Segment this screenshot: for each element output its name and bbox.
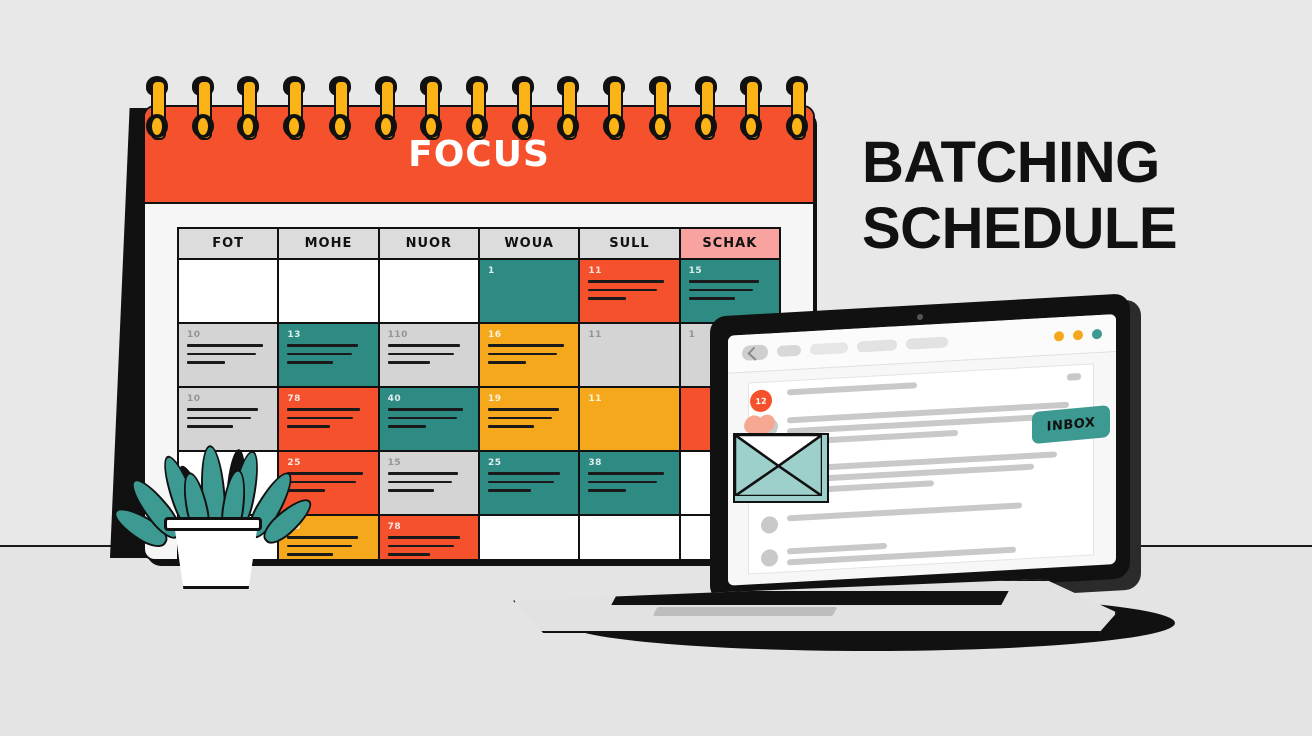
calendar-day-cell[interactable]: 78	[380, 516, 480, 561]
spiral-ring	[786, 78, 808, 140]
calendar-day-header-2: NUOR	[380, 229, 480, 258]
laptop: 12 INBOX	[505, 305, 1165, 655]
calendar-day-header-1: MOHE	[279, 229, 379, 258]
calendar-day-cell[interactable]: 13	[279, 324, 379, 386]
potted-plant	[140, 425, 290, 575]
page-title: BATCHING SCHEDULE	[862, 130, 1282, 262]
toolbar-dots	[1054, 328, 1102, 341]
calendar-day-cell[interactable]: 110	[380, 324, 480, 386]
spiral-ring	[237, 78, 259, 140]
illustration-scene: BATCHING SCHEDULE FOCUS FOTMOHENUORWOUAS…	[0, 0, 1312, 736]
webcam-icon	[917, 314, 923, 320]
spiral-ring	[329, 78, 351, 140]
calendar-day-cell[interactable]	[179, 260, 279, 322]
spiral-ring	[649, 78, 671, 140]
laptop-keyboard-deck	[513, 579, 1117, 633]
inbox-label-badge[interactable]: INBOX	[1032, 405, 1110, 444]
spiral-ring	[375, 78, 397, 140]
trackpad	[653, 607, 838, 616]
calendar-day-header-4: SULL	[580, 229, 680, 258]
avatar	[761, 516, 778, 534]
spiral-ring	[466, 78, 488, 140]
toolbar-pill[interactable]	[906, 336, 948, 349]
calendar-day-header-3: WOUA	[480, 229, 580, 258]
toolbar-pill[interactable]	[777, 345, 801, 357]
avatar	[761, 549, 778, 567]
laptop-deck-inset	[611, 591, 1008, 605]
calendar-day-cell[interactable]: 15	[380, 452, 480, 514]
calendar-spiral-binding	[143, 78, 813, 148]
spiral-ring	[603, 78, 625, 140]
envelope-icon	[733, 433, 829, 503]
spiral-ring	[420, 78, 442, 140]
calendar-day-header-0: FOT	[179, 229, 279, 258]
spiral-ring	[283, 78, 305, 140]
title-line-1: BATCHING	[862, 130, 1160, 195]
calendar-day-cell[interactable]	[279, 260, 379, 322]
calendar-day-cell[interactable]: 10	[179, 324, 279, 386]
spiral-ring	[695, 78, 717, 140]
spiral-ring	[512, 78, 534, 140]
laptop-base	[505, 573, 1130, 635]
toolbar-pill[interactable]	[857, 339, 897, 352]
spiral-ring	[740, 78, 762, 140]
back-arrow-icon[interactable]	[742, 344, 768, 360]
spiral-ring	[146, 78, 168, 140]
calendar-day-cell[interactable]: 78	[279, 388, 379, 450]
spiral-ring	[192, 78, 214, 140]
spiral-ring	[557, 78, 579, 140]
plant-pot	[168, 521, 264, 589]
toolbar-status-dot[interactable]	[1054, 330, 1064, 341]
calendar-day-header-5: SCHAK	[681, 229, 779, 258]
calendar-day-header-row: FOTMOHENUORWOUASULLSCHAK	[177, 227, 781, 260]
toolbar-status-dot[interactable]	[1073, 329, 1083, 340]
plant-pot-rim	[164, 517, 262, 531]
calendar-day-cell[interactable]	[380, 260, 480, 322]
title-line-2: SCHEDULE	[862, 196, 1282, 262]
calendar-day-cell[interactable]: 40	[380, 388, 480, 450]
toolbar-pill[interactable]	[810, 342, 848, 355]
toolbar-status-dot[interactable]	[1092, 328, 1102, 339]
